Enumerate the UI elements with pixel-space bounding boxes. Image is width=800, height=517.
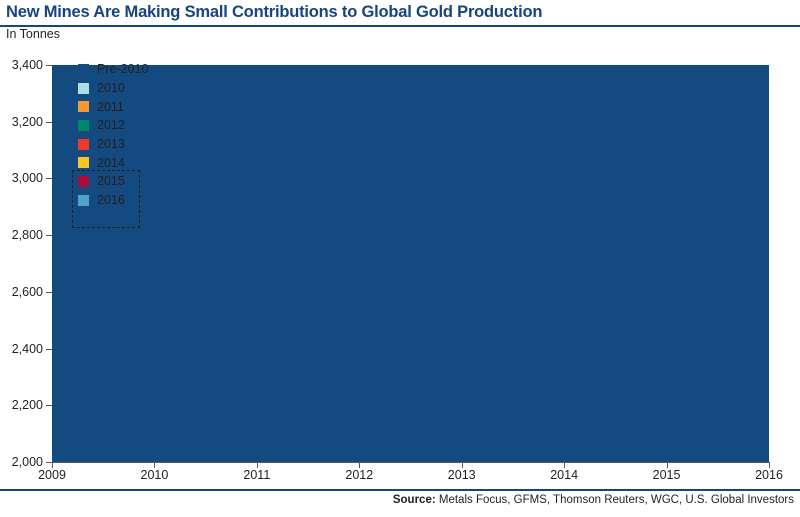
area-band-pre-2010 [52, 65, 769, 462]
x-tick-label: 2013 [448, 468, 476, 482]
legend-item-label: 2011 [97, 100, 124, 114]
source-text: Metals Focus, GFMS, Thomson Reuters, WGC… [436, 494, 794, 506]
source-divider [0, 489, 800, 491]
legend-swatch-icon [78, 195, 89, 206]
stacked-area-plot [52, 65, 769, 462]
chart-legend: Pre-20102010201120122013201420152016 [78, 60, 148, 210]
legend-item-2016[interactable]: 2016 [78, 191, 148, 210]
x-tick-label: 2009 [38, 468, 66, 482]
source-line: Source: Metals Focus, GFMS, Thomson Reut… [393, 494, 794, 506]
chart-title: New Mines Are Making Small Contributions… [6, 3, 542, 22]
title-divider [0, 25, 800, 27]
x-tick-label: 2012 [345, 468, 373, 482]
legend-item-label: 2010 [97, 81, 125, 95]
y-tick-label: 3,400 [12, 58, 43, 72]
legend-swatch-icon [78, 157, 89, 168]
legend-item-label: 2014 [97, 156, 125, 170]
chart-subtitle: In Tonnes [6, 27, 60, 41]
area-chart-svg [52, 65, 769, 462]
legend-item-2014[interactable]: 2014 [78, 153, 148, 172]
x-tick-label: 2011 [243, 468, 270, 482]
legend-item-2012[interactable]: 2012 [78, 116, 148, 135]
y-tick-label: 2,200 [12, 398, 43, 412]
legend-item-2013[interactable]: 2013 [78, 135, 148, 154]
legend-swatch-icon [78, 64, 89, 75]
y-tick-label: 2,800 [12, 228, 43, 242]
legend-item-label: 2015 [97, 174, 125, 188]
y-tick-label: 2,600 [12, 285, 43, 299]
legend-swatch-icon [78, 83, 89, 94]
legend-item-label: 2012 [97, 118, 125, 132]
legend-swatch-icon [78, 176, 89, 187]
legend-item-2011[interactable]: 2011 [78, 97, 148, 116]
legend-swatch-icon [78, 139, 89, 150]
x-tick-label: 2010 [141, 468, 169, 482]
y-tick-label: 2,400 [12, 342, 43, 356]
y-tick-label: 3,200 [12, 115, 43, 129]
x-tick-label: 2016 [755, 468, 783, 482]
legend-item-label: 2013 [97, 137, 125, 151]
y-tick-label: 2,000 [12, 455, 43, 469]
legend-swatch-icon [78, 120, 89, 131]
legend-swatch-icon [78, 101, 89, 112]
x-tick-label: 2015 [653, 468, 681, 482]
legend-item-label: Pre-2010 [97, 62, 148, 76]
x-tick-label: 2014 [550, 468, 578, 482]
legend-item-2015[interactable]: 2015 [78, 172, 148, 191]
y-tick-label: 3,000 [12, 171, 43, 185]
chart-page: New Mines Are Making Small Contributions… [0, 0, 800, 517]
x-axis-line [52, 462, 770, 463]
legend-item-pre-2010[interactable]: Pre-2010 [78, 60, 148, 79]
legend-item-2010[interactable]: 2010 [78, 79, 148, 98]
legend-item-label: 2016 [97, 193, 125, 207]
source-label: Source: [393, 494, 436, 506]
